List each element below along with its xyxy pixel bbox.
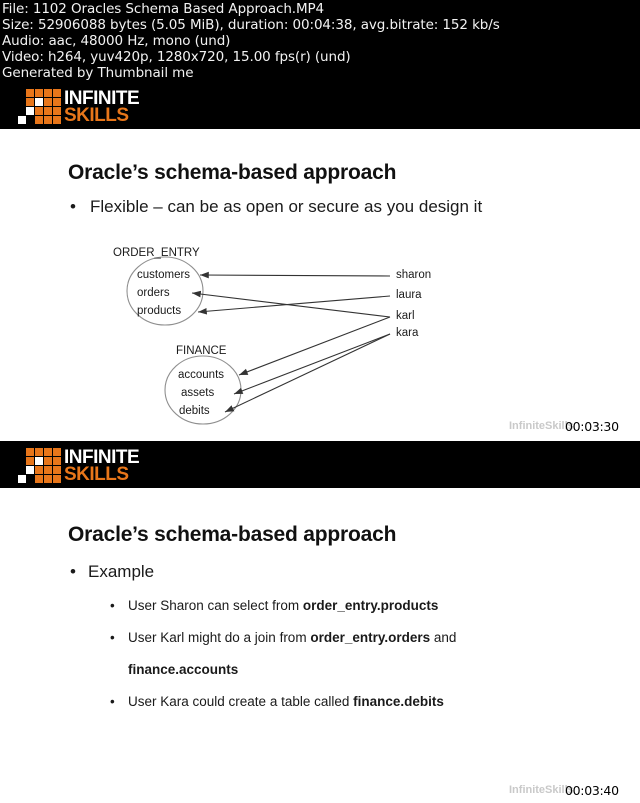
slide2-bullet-marker: •: [70, 562, 76, 582]
file-info-line-video: Video: h264, yuv420p, 1280x720, 15.00 fp…: [2, 49, 640, 65]
logo-word-infinite: INFINITE: [64, 89, 139, 106]
diagram-object-accounts: accounts: [178, 369, 224, 381]
file-info-header: File: 1102 Oracles Schema Based Approach…: [0, 0, 640, 82]
brand-banner-middle: INFINITE SKILLS: [0, 441, 640, 488]
subbullet-2-schema-2: finance.accounts: [128, 662, 238, 677]
logo-word-skills: SKILLS: [64, 106, 139, 123]
slide2-title: Oracle’s schema-based approach: [68, 523, 396, 547]
slide2-subbullet-marker-3: •: [110, 694, 115, 709]
file-info-line-filename: File: 1102 Oracles Schema Based Approach…: [2, 1, 640, 17]
slide2-timestamp: 00:03:40: [565, 783, 619, 798]
logo-checker-grid-icon: [18, 89, 60, 123]
diagram-group-label-finance: FINANCE: [176, 345, 226, 357]
file-info-line-audio: Audio: aac, 48000 Hz, mono (und): [2, 33, 640, 49]
diagram-object-debits: debits: [179, 405, 210, 417]
logo-word-skills-2: SKILLS: [64, 465, 139, 482]
file-info-line-size: Size: 52906088 bytes (5.05 MiB), duratio…: [2, 17, 640, 33]
slide2-bullet-text: Example: [88, 562, 154, 582]
slide1-title: Oracle’s schema-based approach: [68, 161, 396, 185]
subbullet-2-suffix: and: [430, 630, 456, 645]
diagram-user-sharon: sharon: [396, 269, 431, 281]
file-info-line-generator: Generated by Thumbnail me: [2, 65, 640, 81]
slide2-subbullet-2: User Karl might do a join from order_ent…: [128, 630, 456, 645]
logo-checker-grid-icon-2: [18, 448, 60, 482]
slide1-bullet-text: Flexible – can be as open or secure as y…: [90, 197, 482, 217]
slide2-subbullet-marker-2: •: [110, 630, 115, 645]
diagram-user-kara: kara: [396, 327, 418, 339]
diagram-user-karl: karl: [396, 310, 415, 322]
infinite-skills-logo-2: INFINITE SKILLS: [18, 448, 139, 482]
subbullet-3-schema: finance.debits: [353, 694, 444, 709]
slide-thumbnail-1[interactable]: Oracle’s schema-based approach • Flexibl…: [0, 129, 640, 441]
diagram-object-orders: orders: [137, 287, 170, 299]
slide2-subbullet-2-line2: finance.accounts: [128, 662, 238, 677]
thumbnail-sheet: File: 1102 Oracles Schema Based Approach…: [0, 0, 640, 803]
slide1-bullet-marker: •: [70, 197, 76, 217]
subbullet-1-prefix: User Sharon can select from: [128, 598, 303, 613]
slide2-subbullet-1: User Sharon can select from order_entry.…: [128, 598, 438, 613]
logo-wordmark: INFINITE SKILLS: [64, 89, 139, 123]
slide2-subbullet-marker-1: •: [110, 598, 115, 613]
subbullet-2-schema: order_entry.orders: [310, 630, 430, 645]
logo-word-infinite-2: INFINITE: [64, 448, 139, 465]
diagram-object-products: products: [137, 305, 181, 317]
slide-thumbnail-2[interactable]: Oracle’s schema-based approach • Example…: [0, 488, 640, 803]
subbullet-3-prefix: User Kara could create a table called: [128, 694, 353, 709]
slide1-timestamp: 00:03:30: [565, 419, 619, 434]
logo-wordmark-2: INFINITE SKILLS: [64, 448, 139, 482]
diagram-user-laura: laura: [396, 289, 422, 301]
diagram-object-assets: assets: [181, 387, 214, 399]
subbullet-1-schema: order_entry.products: [303, 598, 439, 613]
diagram-object-customers: customers: [137, 269, 190, 281]
diagram-group-label-order-entry: ORDER_ENTRY: [113, 247, 200, 259]
slide2-subbullet-3: User Kara could create a table called fi…: [128, 694, 444, 709]
brand-banner-top: INFINITE SKILLS: [0, 82, 640, 129]
infinite-skills-logo: INFINITE SKILLS: [18, 89, 139, 123]
subbullet-2-prefix: User Karl might do a join from: [128, 630, 310, 645]
